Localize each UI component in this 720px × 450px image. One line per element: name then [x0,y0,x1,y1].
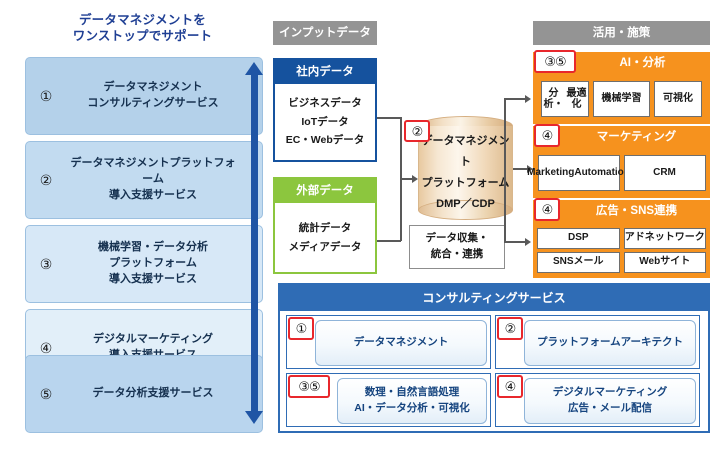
service-label-5: データ分析支援サービス [66,386,262,402]
consulting-header: コンサルティングサービス [280,285,708,311]
service-label-3-line2: プラットフォーム [66,256,240,272]
service-label-2-line2: 導入支援サービス [66,188,240,204]
ai-analysis-tag: ③⑤ [534,50,576,73]
internal-data-panel: 社内データ ビジネスデータ IoTデータ EC・Webデータ [273,58,377,162]
input-data-header: インプットデータ [273,21,377,45]
connector-external-horizontal [377,240,401,242]
internal-data-item-3: EC・Webデータ [286,131,365,149]
consulting-card-1-line1: データマネジメント [354,335,449,351]
service-label-2: データマネジメントプラットフォーム 導入支援サービス [66,156,262,204]
usage-header: 活用・施策 [533,21,710,45]
service-label-1-line2: コンサルティングサービス [66,96,240,112]
service-number-3: ③ [26,256,66,273]
ad-sns-row-2: SNSメール Webサイト [537,252,706,273]
consulting-card-4-line1: デジタルマーケティング [553,385,667,401]
chip-analysis-optimization[interactable]: 分析・ 最適化 [541,81,589,117]
double-arrow-head-down-icon [245,411,263,424]
platform-label-line2: プラットフォーム [422,173,510,194]
external-data-items: 統計データ メディアデータ [275,203,375,272]
diagram-canvas: データマネジメントを ワンストップでサポート ① データマネジメント コンサルテ… [0,0,720,450]
consulting-tag-1: ① [288,317,314,340]
consulting-card-3-line1: 数理・自然言語処理 [365,385,460,401]
consulting-card-1[interactable]: データマネジメント [315,320,487,366]
consulting-cell-2: プラットフォームアーキテクト [495,315,700,369]
consulting-card-4-line2: 広告・メール配信 [568,401,652,417]
chip-sns-mail[interactable]: SNSメール [537,252,620,273]
ad-sns-row-1: DSP アドネットワーク [537,228,706,249]
connector-out-top [504,98,526,100]
chip-marketing-automation[interactable]: Marketing Automation [538,155,620,191]
marketing-chips: Marketing Automation CRM [533,148,710,198]
service-label-3: 機械学習・データ分析 プラットフォーム 導入支援サービス [66,240,262,288]
chip-visualization[interactable]: 可視化 [654,81,702,117]
platform-tag-2: ② [404,120,430,142]
connector-out-bottom-arrowhead-icon [525,238,531,246]
service-number-2: ② [26,172,66,189]
data-collection-box: データ収集・ 統合・連携 [409,225,505,269]
chip-website[interactable]: Webサイト [624,252,707,273]
chip-marketing-automation-l1: Marketing [527,167,574,179]
data-collection-line1: データ収集・ [426,231,489,247]
service-box-5[interactable]: ⑤ データ分析支援サービス [25,355,263,433]
external-data-title: 外部データ [275,179,375,203]
service-label-2-line1: データマネジメントプラットフォーム [66,156,240,188]
page-title-line2: ワンストップでサポート [73,29,212,45]
consulting-card-2-line1: プラットフォームアーキテクト [537,335,683,351]
service-box-3[interactable]: ③ 機械学習・データ分析 プラットフォーム 導入支援サービス [25,225,263,303]
connector-internal-horizontal [377,117,401,119]
page-title-line1: データマネジメントを [79,13,206,29]
consulting-cell-4: デジタルマーケティング 広告・メール配信 [495,373,700,427]
connector-out-bottom [504,241,526,243]
consulting-card-4[interactable]: デジタルマーケティング 広告・メール配信 [524,378,696,424]
ad-sns-chips: DSP アドネットワーク SNSメール Webサイト [533,222,710,278]
service-box-1[interactable]: ① データマネジメント コンサルティングサービス [25,57,263,135]
service-label-1-line1: データマネジメント [66,80,240,96]
chip-analysis-optimization-l1: 分析・ [542,88,565,111]
page-title: データマネジメントを ワンストップでサポート [25,8,260,50]
double-arrow-shaft [251,74,258,412]
consulting-panel: コンサルティングサービス データマネジメント ① プラットフォームアーキテクト … [278,283,710,433]
consulting-tag-3: ③⑤ [288,375,330,398]
chip-marketing-automation-l2: Automation [574,167,630,179]
chip-ad-network[interactable]: アドネットワーク [624,228,707,249]
platform-label-line1: データマネジメント [418,131,513,173]
consulting-tag-4: ④ [497,375,523,398]
platform-label-line3: DMP／CDP [436,194,495,215]
internal-data-item-1: ビジネスデータ [288,94,362,112]
service-label-3-line3: 導入支援サービス [66,272,240,288]
external-data-panel: 外部データ 統計データ メディアデータ [273,177,377,274]
service-label-3-line1: 機械学習・データ分析 [66,240,240,256]
consulting-tag-2: ② [497,317,523,340]
consulting-card-3-line2: AI・データ分析・可視化 [354,401,470,417]
ad-sns-tag: ④ [534,198,560,221]
platform-label: データマネジメント プラットフォーム DMP／CDP [418,140,513,206]
internal-data-item-2: IoTデータ [301,113,348,131]
internal-data-title: 社内データ [275,60,375,84]
connector-out-branch-vertical [504,98,506,242]
service-label-5-line1: データ分析支援サービス [66,386,240,402]
service-label-1: データマネジメント コンサルティングサービス [66,80,262,112]
data-collection-line2: 統合・連携 [431,247,484,263]
external-data-item-1: 統計データ [299,219,352,237]
internal-data-items: ビジネスデータ IoTデータ EC・Webデータ [275,84,375,160]
chip-machine-learning[interactable]: 機械学習 [593,81,650,117]
chip-dsp[interactable]: DSP [537,228,620,249]
service-number-5: ⑤ [26,386,66,403]
service-label-4-line1: デジタルマーケティング [66,332,240,348]
marketing-tag: ④ [534,124,560,147]
ai-analysis-chips: 分析・ 最適化 機械学習 可視化 [533,74,710,124]
service-number-1: ① [26,88,66,105]
service-number-4: ④ [26,340,66,357]
consulting-card-3[interactable]: 数理・自然言語処理 AI・データ分析・可視化 [337,378,487,424]
chip-crm[interactable]: CRM [624,155,706,191]
connector-out-top-arrowhead-icon [525,95,531,103]
chip-analysis-optimization-l2: 最適化 [565,88,588,111]
consulting-card-2[interactable]: プラットフォームアーキテクト [524,320,696,366]
consulting-cell-1: データマネジメント [286,315,491,369]
external-data-item-2: メディアデータ [289,238,362,256]
service-box-2[interactable]: ② データマネジメントプラットフォーム 導入支援サービス [25,141,263,219]
